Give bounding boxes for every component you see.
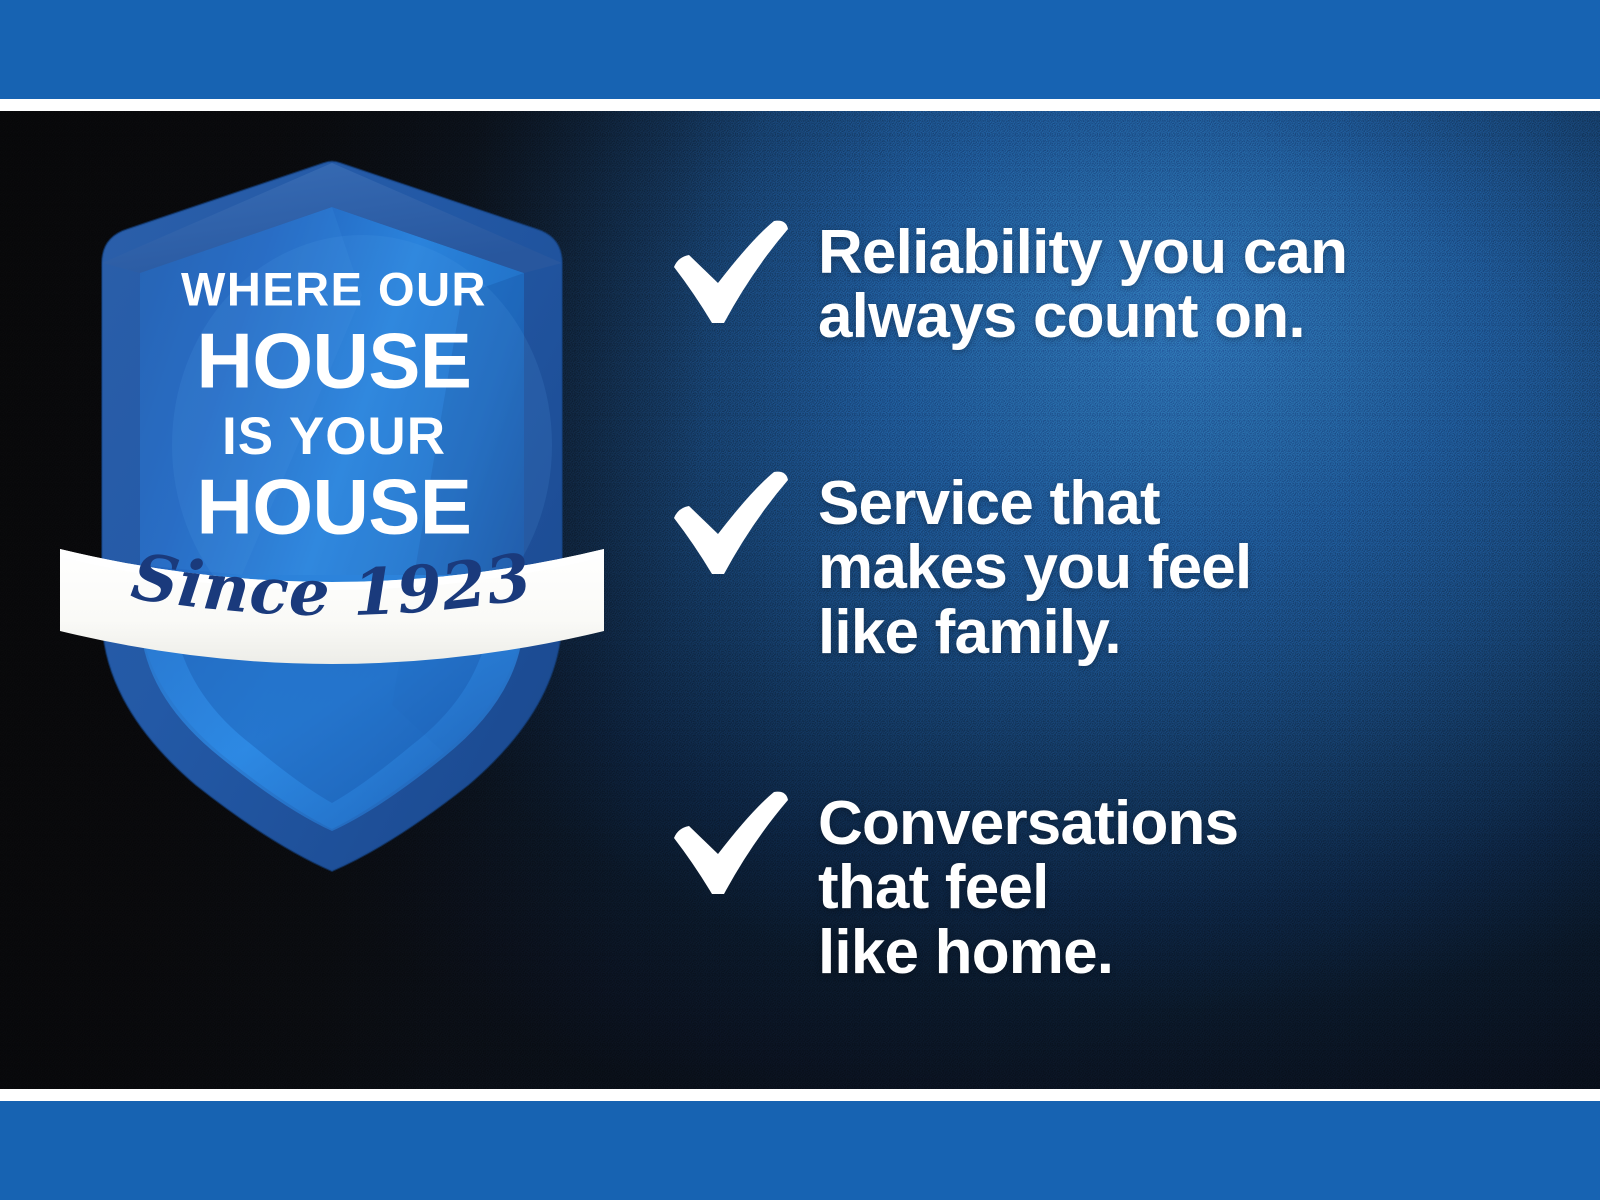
- checkmark-icon: [668, 466, 792, 580]
- since-ribbon: Since 1923: [60, 539, 604, 664]
- checkmark-icon: [668, 215, 792, 329]
- shield-line-4: HOUSE: [197, 463, 472, 551]
- shield-text-block: WHERE OUR HOUSE IS YOUR HOUSE: [181, 262, 487, 550]
- bottom-brand-bar: [0, 1101, 1600, 1200]
- checkmark-icon: [668, 786, 792, 900]
- shield-line-3: IS YOUR: [222, 407, 446, 466]
- benefit-text-3: Conversations that feel like home.: [818, 786, 1238, 985]
- shield-line-1: WHERE OUR: [181, 262, 487, 315]
- benefits-list: Reliability you can always count on. Ser…: [668, 111, 1568, 1089]
- company-logo: WHERE OUR HOUSE IS YOUR HOUSE Since 1923: [62, 145, 602, 825]
- top-white-divider: [0, 99, 1600, 111]
- bottom-white-divider: [0, 1089, 1600, 1101]
- benefit-item-2: Service that makes you feel like family.: [668, 466, 1251, 665]
- benefit-item-1: Reliability you can always count on.: [668, 215, 1347, 350]
- shield-badge-svg: WHERE OUR HOUSE IS YOUR HOUSE Since 1923: [62, 145, 602, 825]
- benefit-item-3: Conversations that feel like home.: [668, 786, 1238, 985]
- benefit-text-1: Reliability you can always count on.: [818, 215, 1347, 350]
- top-brand-bar: [0, 0, 1600, 99]
- promotional-graphic: WHERE OUR HOUSE IS YOUR HOUSE Since 1923…: [0, 0, 1600, 1200]
- benefit-text-2: Service that makes you feel like family.: [818, 466, 1251, 665]
- shield-line-2: HOUSE: [197, 317, 472, 405]
